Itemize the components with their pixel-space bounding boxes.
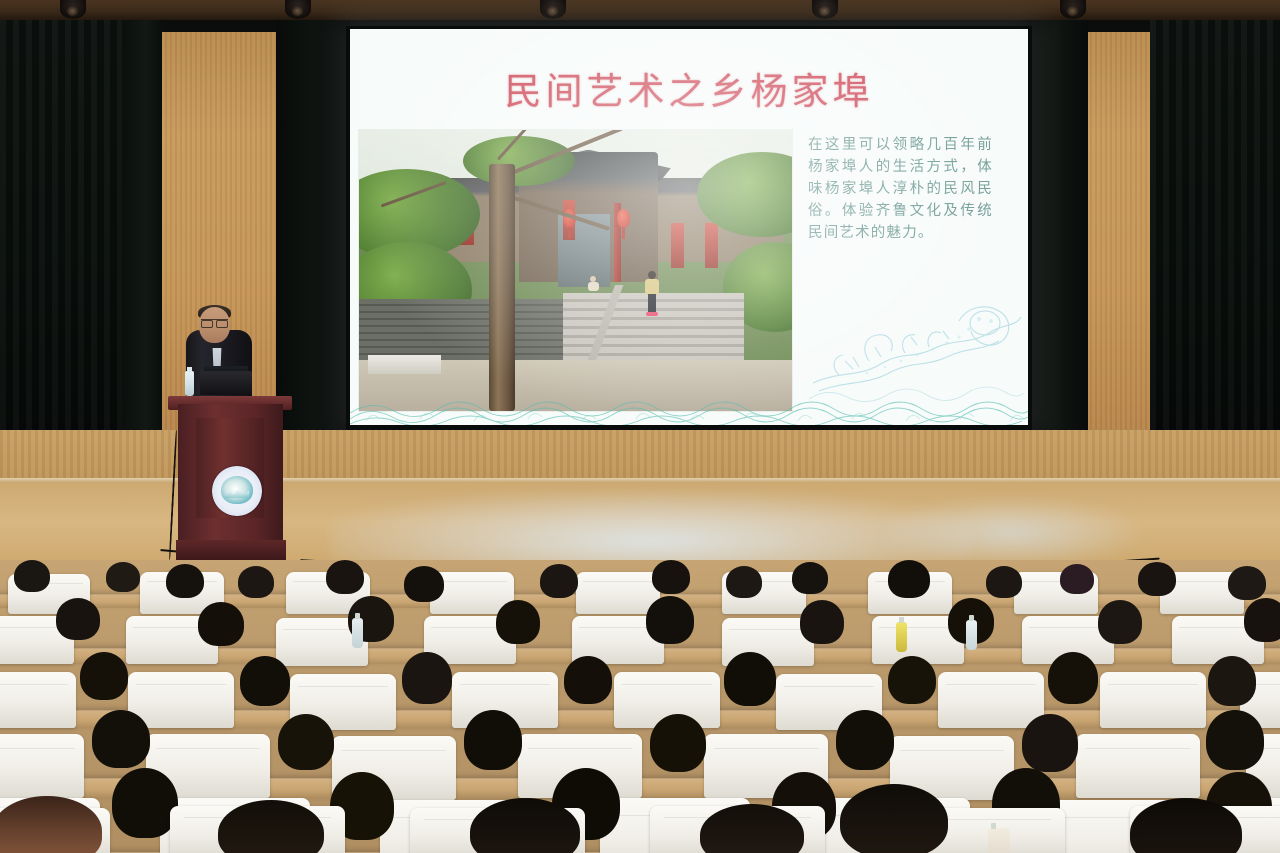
- audience-head: [1048, 652, 1098, 704]
- photo-bench: [368, 355, 442, 375]
- audience-head: [836, 710, 894, 770]
- slide-body-text: 在这里可以领略几百年前杨家埠人的生活方式，体味杨家埠人淳朴的民风民俗。体验齐鲁文…: [808, 134, 993, 244]
- audience-head: [986, 566, 1022, 598]
- photo-person-torso: [645, 279, 659, 295]
- presentation-slide: 民间艺术之乡杨家埠: [350, 29, 1028, 425]
- floor-light-reflection: [880, 498, 1140, 568]
- audience-head: [1098, 600, 1142, 644]
- ceiling-spotlight: [1060, 0, 1086, 19]
- audience-head: [800, 600, 844, 644]
- audience-head: [166, 564, 204, 598]
- audience-head: [238, 566, 274, 598]
- slide-wave-border: [350, 389, 1028, 425]
- slide-title: 民间艺术之乡杨家埠: [350, 61, 1028, 115]
- audience-head: [888, 656, 936, 704]
- photo-tree-trunk: [489, 164, 515, 411]
- audience-head: [404, 566, 444, 602]
- photo-red-couplet: [705, 223, 718, 268]
- audience-head: [1138, 562, 1176, 596]
- audience-head: [646, 596, 694, 644]
- audience-chair: [576, 572, 660, 614]
- audience-head: [80, 652, 128, 700]
- photo-red-couplet: [671, 223, 684, 268]
- podium-laptop: [200, 371, 252, 395]
- audience-head: [1060, 564, 1094, 594]
- audience-head: [92, 710, 150, 768]
- audience-head: [1244, 598, 1280, 642]
- stage-curtain-left: [0, 20, 130, 480]
- audience-head: [402, 652, 452, 704]
- university-crest-icon: [212, 466, 262, 516]
- audience-head: [724, 652, 776, 706]
- audience-chair: [938, 672, 1044, 728]
- water-bottle: [966, 620, 977, 650]
- audience-head: [198, 602, 244, 646]
- audience-chair: [0, 734, 84, 798]
- audience-head: [888, 560, 930, 598]
- audience-chair: [1100, 672, 1206, 728]
- audience-head: [726, 566, 762, 598]
- audience-chair: [128, 672, 234, 728]
- lecture-hall-photo: 民间艺术之乡杨家埠: [0, 0, 1280, 853]
- audience-head: [1022, 714, 1078, 772]
- audience-head: [540, 564, 578, 598]
- stage-curtain-left-inner: [122, 20, 162, 464]
- podium-water-bottle: [185, 371, 194, 396]
- audience-head: [1208, 656, 1256, 706]
- ceiling-spotlight: [540, 0, 566, 19]
- photo-person-standing: [645, 271, 661, 317]
- audience-head: [278, 714, 334, 770]
- water-bottle: [896, 622, 907, 652]
- photo-person-head: [648, 271, 656, 279]
- audience-head: [1206, 710, 1264, 770]
- ceiling-spotlight: [812, 0, 838, 19]
- audience-head-foreground: [840, 784, 948, 853]
- audience-chair: [0, 672, 76, 728]
- audience-head: [112, 768, 178, 838]
- audience-head: [326, 560, 364, 594]
- photo-person-shoes: [646, 312, 658, 316]
- photo-person-legs: [648, 294, 656, 313]
- photo-person-torso: [588, 282, 599, 291]
- photo-person-sitting: [588, 276, 600, 290]
- photo-stone-wall: [359, 299, 567, 361]
- audience-head: [106, 562, 140, 592]
- water-bottle: [352, 618, 363, 648]
- podium-base: [176, 540, 286, 562]
- audience-head: [564, 656, 612, 704]
- water-bottle: [988, 828, 1010, 853]
- audience-seating: [0, 560, 1280, 853]
- audience-head: [14, 560, 50, 592]
- photo-red-lantern: [617, 209, 630, 228]
- audience-head: [652, 560, 690, 594]
- stage-curtain-right: [1150, 20, 1280, 470]
- photo-foliage: [463, 136, 576, 187]
- audience-head: [650, 714, 706, 772]
- stage-curtain-right-inner: [1028, 20, 1088, 468]
- audience-head: [496, 600, 540, 644]
- audience-head: [240, 656, 290, 706]
- audience-chair: [1076, 734, 1200, 798]
- audience-head: [1228, 566, 1266, 600]
- slide-photo-courtyard: [358, 129, 793, 412]
- audience-head: [56, 598, 100, 640]
- ceiling-spotlight: [285, 0, 311, 19]
- audience-head: [464, 710, 522, 770]
- audience-head: [792, 562, 828, 594]
- stage-curtain-left-gap: [276, 20, 350, 460]
- speaker-glasses: [201, 319, 228, 325]
- crest-inner: [221, 476, 253, 504]
- ceiling-spotlight: [60, 0, 86, 19]
